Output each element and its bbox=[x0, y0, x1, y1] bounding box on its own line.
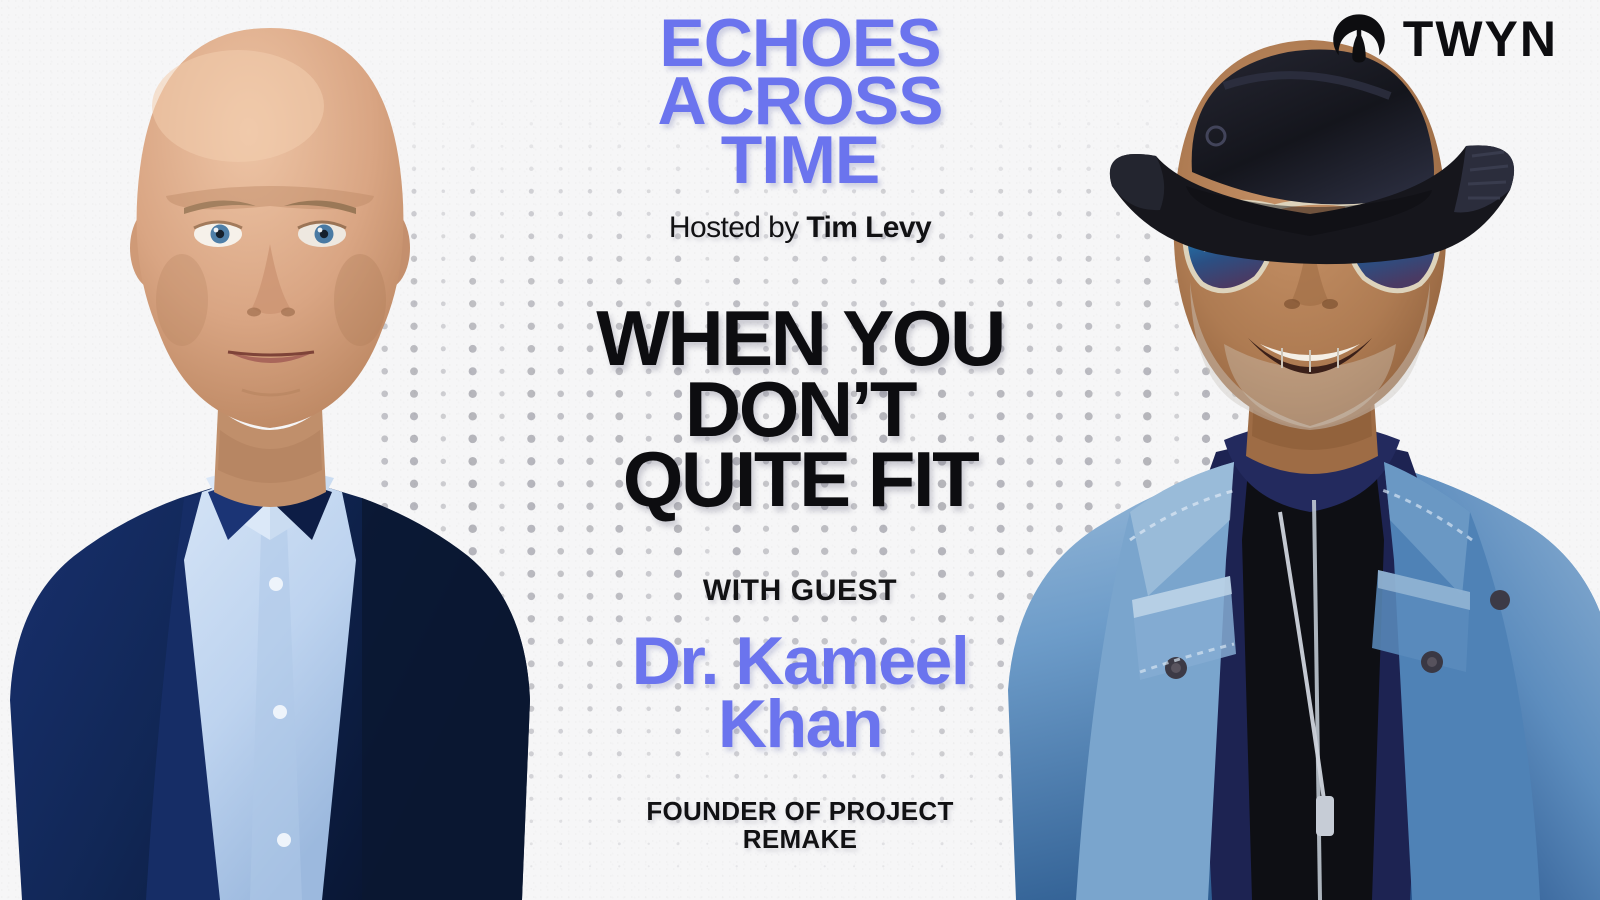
guest-role: FOUNDER OF PROJECT REMAKE bbox=[646, 797, 953, 853]
guest-role-line-1: FOUNDER OF PROJECT bbox=[646, 797, 953, 825]
host-credit: Hosted by Tim Levy bbox=[669, 211, 931, 245]
guest-name-line-1: Dr. Kameel bbox=[632, 630, 969, 693]
guest-name: Dr. Kameel Khan bbox=[632, 630, 969, 755]
guest-role-line-2: REMAKE bbox=[646, 825, 953, 853]
brand-name: TWYN bbox=[1403, 10, 1558, 68]
host-credit-prefix: Hosted by bbox=[669, 211, 806, 244]
guest-portrait-photo bbox=[980, 0, 1600, 900]
poster-canvas: ECHOES ACROSS TIME Hosted by Tim Levy WH… bbox=[0, 0, 1600, 900]
with-guest-label: WITH GUEST bbox=[703, 574, 897, 608]
episode-title-line-3: QUITE FIT bbox=[596, 444, 1004, 514]
host-name: Tim Levy bbox=[806, 211, 931, 244]
episode-title-line-1: WHEN YOU bbox=[596, 303, 1004, 373]
host-portrait-photo bbox=[0, 0, 590, 900]
episode-title-line-2: DON’T bbox=[596, 374, 1004, 444]
twyn-tree-mark-icon bbox=[1331, 11, 1387, 67]
episode-title: WHEN YOU DON’T QUITE FIT bbox=[596, 303, 1004, 514]
guest-name-line-2: Khan bbox=[632, 693, 969, 756]
brand-logo[interactable]: TWYN bbox=[1331, 10, 1558, 68]
show-title: ECHOES ACROSS TIME bbox=[658, 14, 943, 189]
show-title-line-3: TIME bbox=[658, 131, 943, 189]
